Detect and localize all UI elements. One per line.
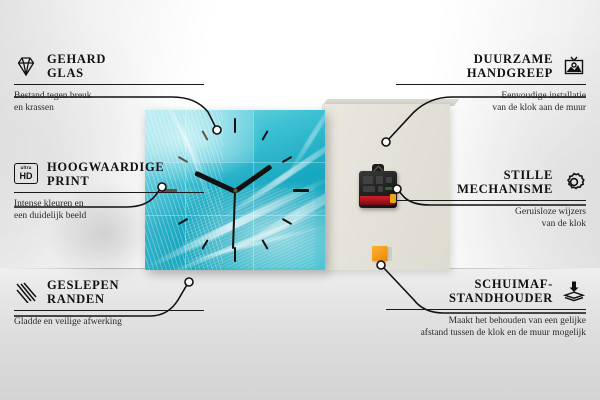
feature-divider [14,192,204,193]
feature-duurzame-handgreep: DUURZAME HANDGREEP Eenvoudige installati… [396,52,586,114]
infographic-stage: GEHARD GLAS Bestand tegen breuk en krass… [0,0,600,400]
hanging-picture-icon [562,55,586,77]
feature-desc-line1: Maakt het behouden van een gelijke [386,315,586,327]
clock-center-hub [233,188,238,193]
feature-title-line1: GESLEPEN [47,278,119,292]
feature-desc-line1: Geruisloze wijzers [396,206,586,218]
feature-desc-line2: van de klok [396,218,586,230]
clock-tick-6 [234,247,236,262]
feature-title-line1: DUURZAME [467,52,553,66]
feature-desc-line1: Bestand tegen breuk [14,90,204,102]
feature-title-line1: SCHUIMAF- [449,277,553,291]
feature-hoogwaardige-print: ultra HD HOOGWAARDIGE PRINT Intense kleu… [14,160,204,222]
feature-divider [396,84,586,85]
clock-tick-3 [293,189,309,192]
diagonal-lines-icon [14,281,38,303]
feature-desc-line1: Gladde en veilige afwerking [14,316,204,328]
glass-grid-line [253,110,254,270]
clock-texture-hatch [185,188,315,268]
feature-desc-line2: en krassen [14,102,204,114]
foam-spacer-pad[interactable] [372,246,387,261]
diamond-icon [14,55,38,77]
feature-schuimafstandhouder: SCHUIMAF- STANDHOUDER Maakt het behouden… [386,277,586,339]
feature-title-line2: PRINT [47,174,164,188]
feature-title-line2: MECHANISME [457,182,553,196]
feature-desc-line2: van de klok aan de muur [396,102,586,114]
feature-title-line2: RANDEN [47,292,119,306]
feature-title-line1: GEHARD [47,52,106,66]
feature-title-line2: GLAS [47,66,106,80]
glass-pane-reflection [185,110,253,162]
feature-title-line1: STILLE [457,168,553,182]
clock-tick-1 [261,130,268,141]
gear-icon [562,171,586,193]
feature-divider [14,310,204,311]
feature-desc-line1: Eenvoudige installatie [396,90,586,102]
feature-title-line2: STANDHOUDER [449,291,553,305]
feature-title-line2: HANDGREEP [467,66,553,80]
feature-divider [14,84,204,85]
clock-feather-streak [281,110,325,185]
ultra-hd-icon-main-text: HD [20,172,33,181]
feature-desc-line2: afstand tussen de klok en de muur mogeli… [386,327,586,339]
feature-desc-line1: Intense kleuren en [14,198,204,210]
glass-pane-reflection [145,110,185,162]
clock-tick-12 [234,118,236,133]
feature-gehard-glas: GEHARD GLAS Bestand tegen breuk en krass… [14,52,204,114]
feature-geslepen-randen: GESLEPEN RANDEN Gladde en veilige afwerk… [14,278,204,328]
feature-title-line1: HOOGWAARDIGE [47,160,164,174]
feature-divider [396,200,586,201]
feature-divider [386,309,586,310]
spacer-stack-icon [562,280,586,302]
ultra-hd-icon: ultra HD [14,163,38,185]
feature-stille-mechanisme: STILLE MECHANISME Geruisloze wijzers van… [396,168,586,230]
feature-desc-line2: een duidelijk beeld [14,210,204,222]
